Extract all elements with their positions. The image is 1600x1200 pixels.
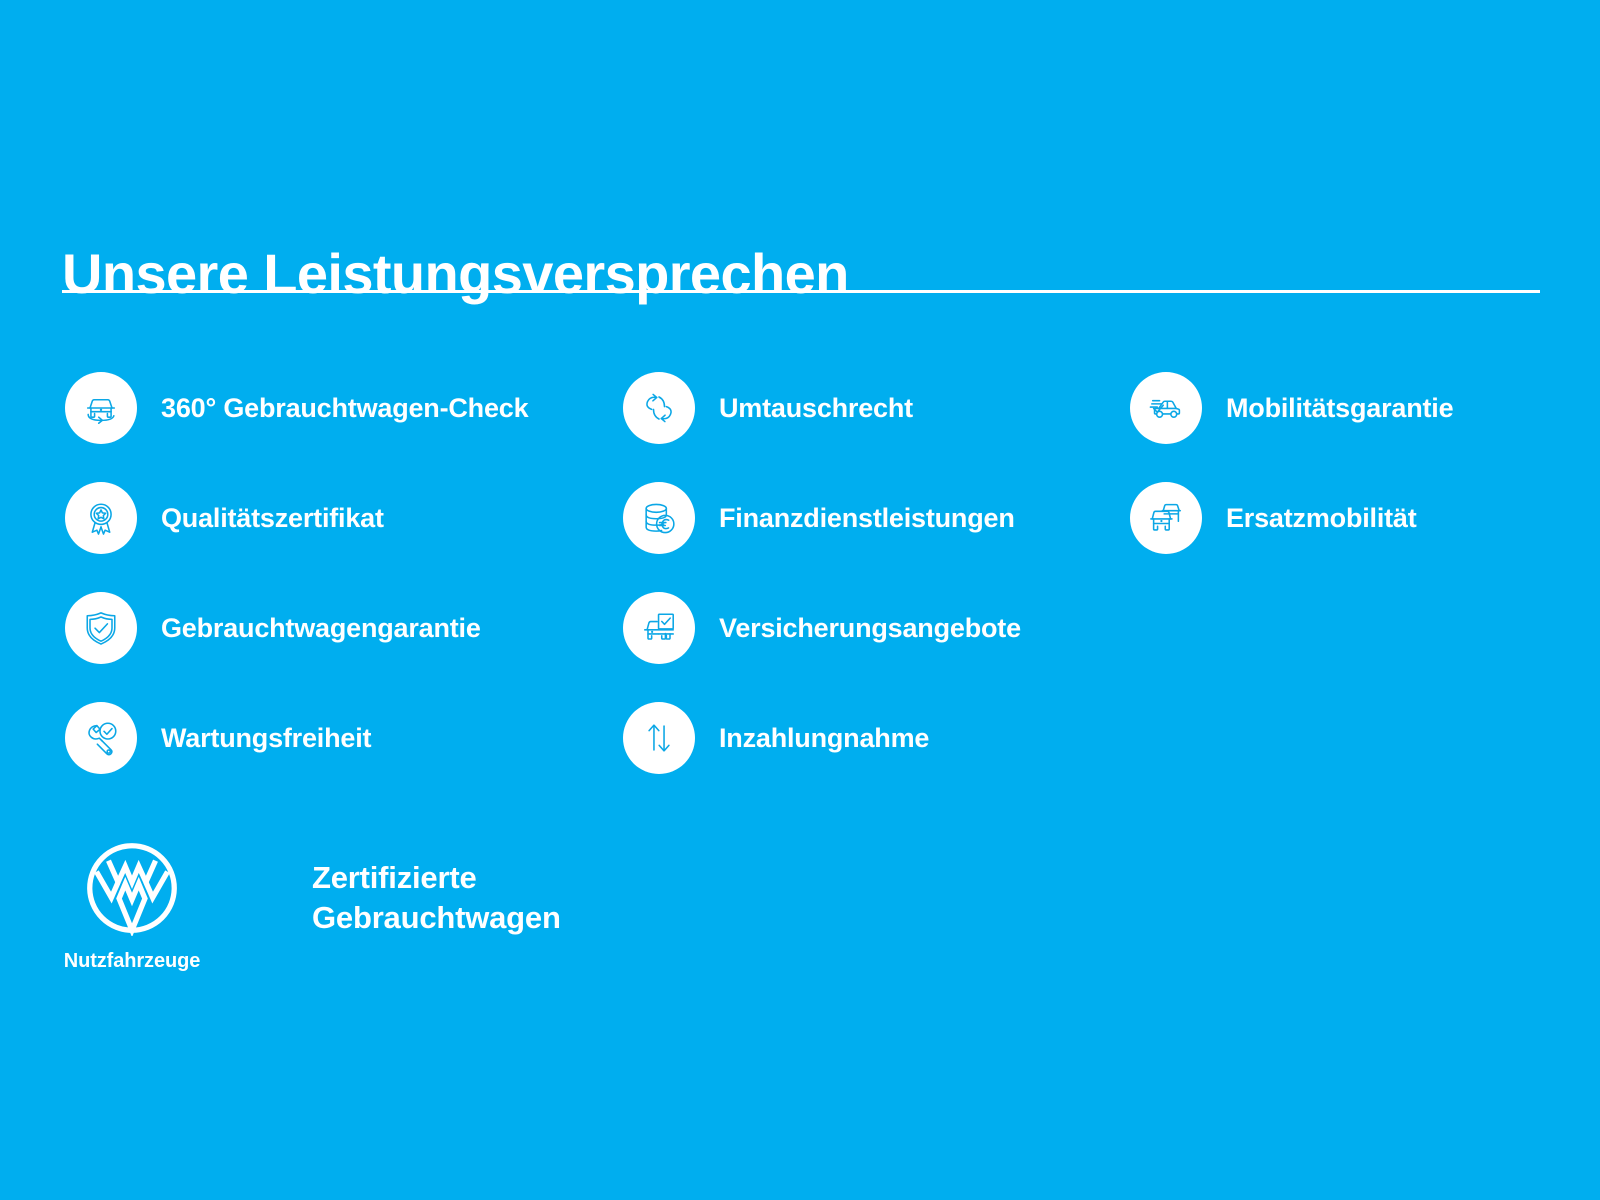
volkswagen-logo-icon xyxy=(84,840,180,936)
feature-label: Versicherungsangebote xyxy=(719,613,1021,644)
brand-claim-line-2: Gebrauchtwagen xyxy=(312,898,561,938)
wrench-check-icon xyxy=(65,702,137,774)
feature-label: Umtauschrecht xyxy=(719,393,913,424)
coins-euro-icon xyxy=(623,482,695,554)
award-medal-star-icon xyxy=(65,482,137,554)
feature-label: Inzahlungnahme xyxy=(719,723,929,754)
brand-mark: Nutzfahrzeuge xyxy=(62,840,242,973)
shield-check-icon xyxy=(65,592,137,664)
feature-item-trade-in[interactable]: Inzahlungnahme xyxy=(623,702,1123,774)
feature-item-insurance-offers[interactable]: Versicherungsangebote xyxy=(623,592,1123,664)
feature-label: Finanzdienstleistungen xyxy=(719,503,1015,534)
feature-column-3: Mobilitätsgarantie xyxy=(1130,372,1590,592)
exchange-arrows-icon xyxy=(623,372,695,444)
feature-item-exchange-right[interactable]: Umtauschrecht xyxy=(623,372,1123,444)
brand-subbrand-label: Nutzfahrzeuge xyxy=(62,950,202,973)
feature-column-2: Umtauschrecht Finanzdienstleistungen xyxy=(623,372,1123,812)
feature-item-quality-certificate[interactable]: Qualitätszertifikat xyxy=(65,482,605,554)
car-360-rotate-icon xyxy=(65,372,137,444)
feature-item-replacement-mobility[interactable]: Ersatzmobilität xyxy=(1130,482,1590,554)
feature-item-financial-services[interactable]: Finanzdienstleistungen xyxy=(623,482,1123,554)
promise-panel: Unsere Leistungsversprechen xyxy=(0,0,1600,1200)
feature-label: Ersatzmobilität xyxy=(1226,503,1417,534)
feature-column-1: 360° Gebrauchtwagen-Check Qualitätszerti… xyxy=(65,372,605,812)
two-cars-front-icon xyxy=(1130,482,1202,554)
car-motion-lines-icon xyxy=(1130,372,1202,444)
feature-item-maintenance-free[interactable]: Wartungsfreiheit xyxy=(65,702,605,774)
feature-item-used-car-warranty[interactable]: Gebrauchtwagengarantie xyxy=(65,592,605,664)
feature-label: Mobilitätsgarantie xyxy=(1226,393,1453,424)
title-divider xyxy=(62,290,1540,293)
arrows-up-down-icon xyxy=(623,702,695,774)
feature-label: Gebrauchtwagengarantie xyxy=(161,613,481,644)
car-document-check-icon xyxy=(623,592,695,664)
brand-claim: Zertifizierte Gebrauchtwagen xyxy=(312,858,561,937)
brand-claim-line-1: Zertifizierte xyxy=(312,858,561,898)
feature-label: Wartungsfreiheit xyxy=(161,723,371,754)
feature-label: Qualitätszertifikat xyxy=(161,503,384,534)
feature-item-360-check[interactable]: 360° Gebrauchtwagen-Check xyxy=(65,372,605,444)
feature-item-mobility-guarantee[interactable]: Mobilitätsgarantie xyxy=(1130,372,1590,444)
brand-lockup: Nutzfahrzeuge Zertifizierte Gebrauchtwag… xyxy=(62,840,561,973)
feature-label: 360° Gebrauchtwagen-Check xyxy=(161,393,528,424)
page-title: Unsere Leistungsversprechen xyxy=(62,244,849,304)
